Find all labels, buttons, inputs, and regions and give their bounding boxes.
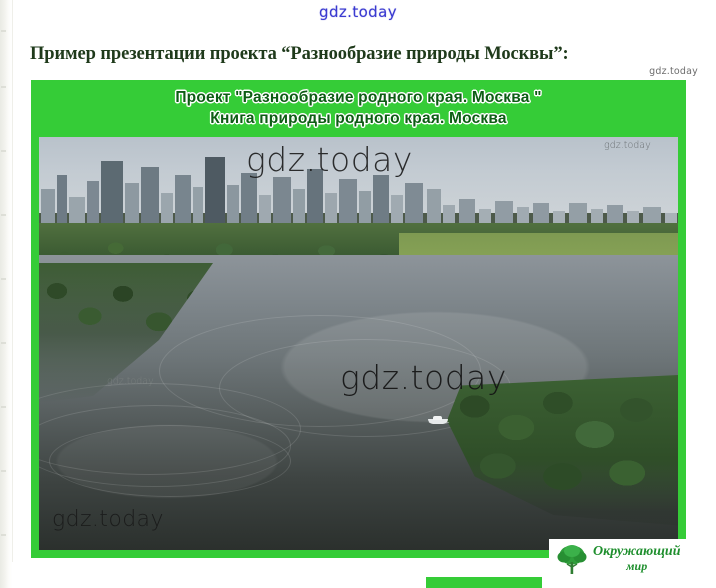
logo-text-line-2: мир — [593, 559, 681, 573]
watermark-heading: gdz.today — [649, 66, 698, 77]
slide-title: Проект "Разнообразие родного края. Москв… — [31, 87, 686, 129]
page-title: Пример презентации проекта “Разнообразие… — [30, 44, 694, 65]
slide-photo — [39, 137, 678, 550]
slide-title-line-2: Книга природы родного края. Москва — [31, 108, 686, 129]
site-logo-top[interactable]: gdz.today — [0, 3, 716, 21]
photo-boat — [428, 415, 448, 424]
brand-logo-okruzhayushchiy-mir[interactable]: Окружающий мир — [549, 539, 716, 579]
bottom-green-bar — [426, 577, 542, 588]
tree-icon — [555, 542, 589, 576]
logo-text-line-1: Окружающий — [593, 544, 681, 559]
page-edge-strip — [0, 0, 13, 588]
photo-city-skyline — [39, 137, 459, 233]
logo-text: Окружающий мир — [593, 545, 681, 573]
slide-title-line-1: Проект "Разнообразие родного края. Москв… — [175, 89, 541, 106]
presentation-slide: Проект "Разнообразие родного края. Москв… — [31, 80, 686, 558]
